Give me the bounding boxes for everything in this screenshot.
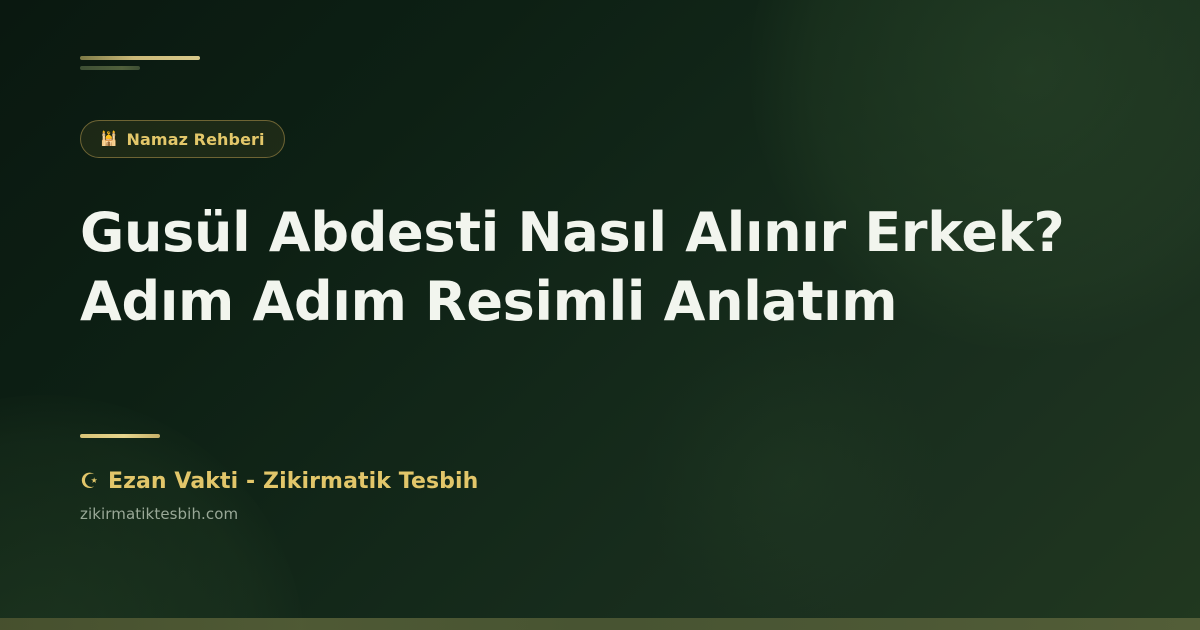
decorative-rule-short [80,66,140,70]
decorative-rule-long [80,56,200,60]
page-title: Gusül Abdesti Nasıl Alınır Erkek? Adım A… [80,198,1090,336]
site-url: zikirmatiktesbih.com [80,505,478,523]
category-badge[interactable]: 🕌 Namaz Rehberi [80,120,285,158]
site-name: ☪ Ezan Vakti - Zikirmatik Tesbih [80,469,478,494]
decorative-circle-center [640,330,940,630]
share-card: 🕌 Namaz Rehberi Gusül Abdesti Nasıl Alın… [0,0,1200,630]
site-name-label: Ezan Vakti - Zikirmatik Tesbih [108,469,479,494]
star-and-crescent-icon: ☪ [80,471,99,492]
footer-block: ☪ Ezan Vakti - Zikirmatik Tesbih zikirma… [80,434,478,523]
footer-accent-bar [80,434,160,438]
top-decorative-rules [80,56,200,76]
category-badge-label: Namaz Rehberi [127,130,265,149]
mosque-icon: 🕌 [100,132,118,146]
bottom-accent-bar [0,618,1200,630]
